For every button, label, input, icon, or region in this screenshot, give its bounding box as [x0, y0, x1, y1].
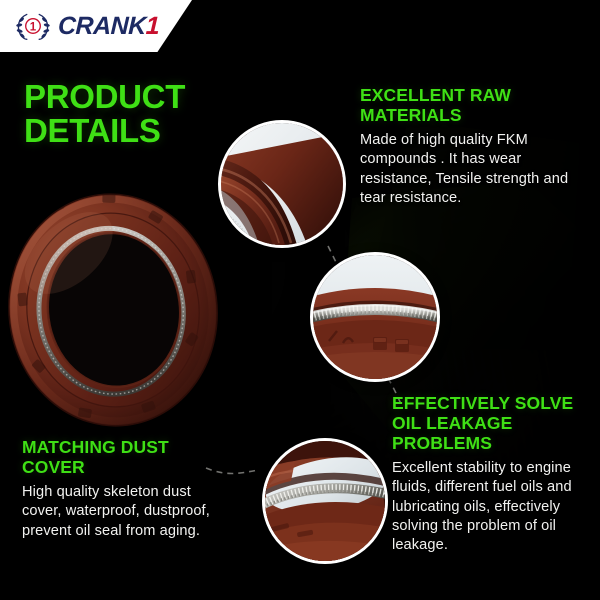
- feature-block-oil-leakage: EFFECTIVELY SOLVE OIL LEAKAGE PROBLEMS E…: [392, 394, 592, 556]
- callout-raw-material-zoom: [218, 120, 346, 248]
- page-title-line-1: PRODUCT: [24, 80, 185, 114]
- svg-text:1: 1: [30, 22, 37, 34]
- feature-body-raw-materials: Made of high quality FKM compounds . It …: [360, 131, 588, 209]
- callout-spring-zoom: [310, 252, 440, 382]
- feature-block-raw-materials: EXCELLENT RAW MATERIALS Made of high qua…: [360, 86, 588, 209]
- feature-heading-raw-materials: EXCELLENT RAW MATERIALS: [360, 86, 588, 126]
- infographic-canvas: 1 CRANK1 PRODUCT DETAILS EXCELLENT RAW M…: [0, 0, 600, 600]
- feature-body-dust-cover: High quality skeleton dust cover, waterp…: [22, 483, 232, 541]
- page-title-line-2: DETAILS: [24, 114, 185, 148]
- feature-heading-oil-leakage: EFFECTIVELY SOLVE OIL LEAKAGE PROBLEMS: [392, 394, 592, 454]
- feature-block-dust-cover: MATCHING DUST COVER High quality skeleto…: [22, 438, 232, 541]
- brand-name-prefix: CRANK: [58, 12, 147, 40]
- feature-heading-dust-cover: MATCHING DUST COVER: [22, 438, 232, 478]
- page-title: PRODUCT DETAILS: [24, 80, 185, 149]
- laurel-wreath-number-one-icon: 1: [13, 10, 53, 42]
- callout-dust-cover-zoom: [262, 438, 388, 564]
- brand-logo[interactable]: 1 CRANK1: [13, 9, 159, 43]
- brand-wordmark: CRANK1: [58, 14, 160, 39]
- feature-body-oil-leakage: Excellent stability to engine fluids, di…: [392, 459, 592, 556]
- brand-name-suffix: 1: [145, 12, 159, 40]
